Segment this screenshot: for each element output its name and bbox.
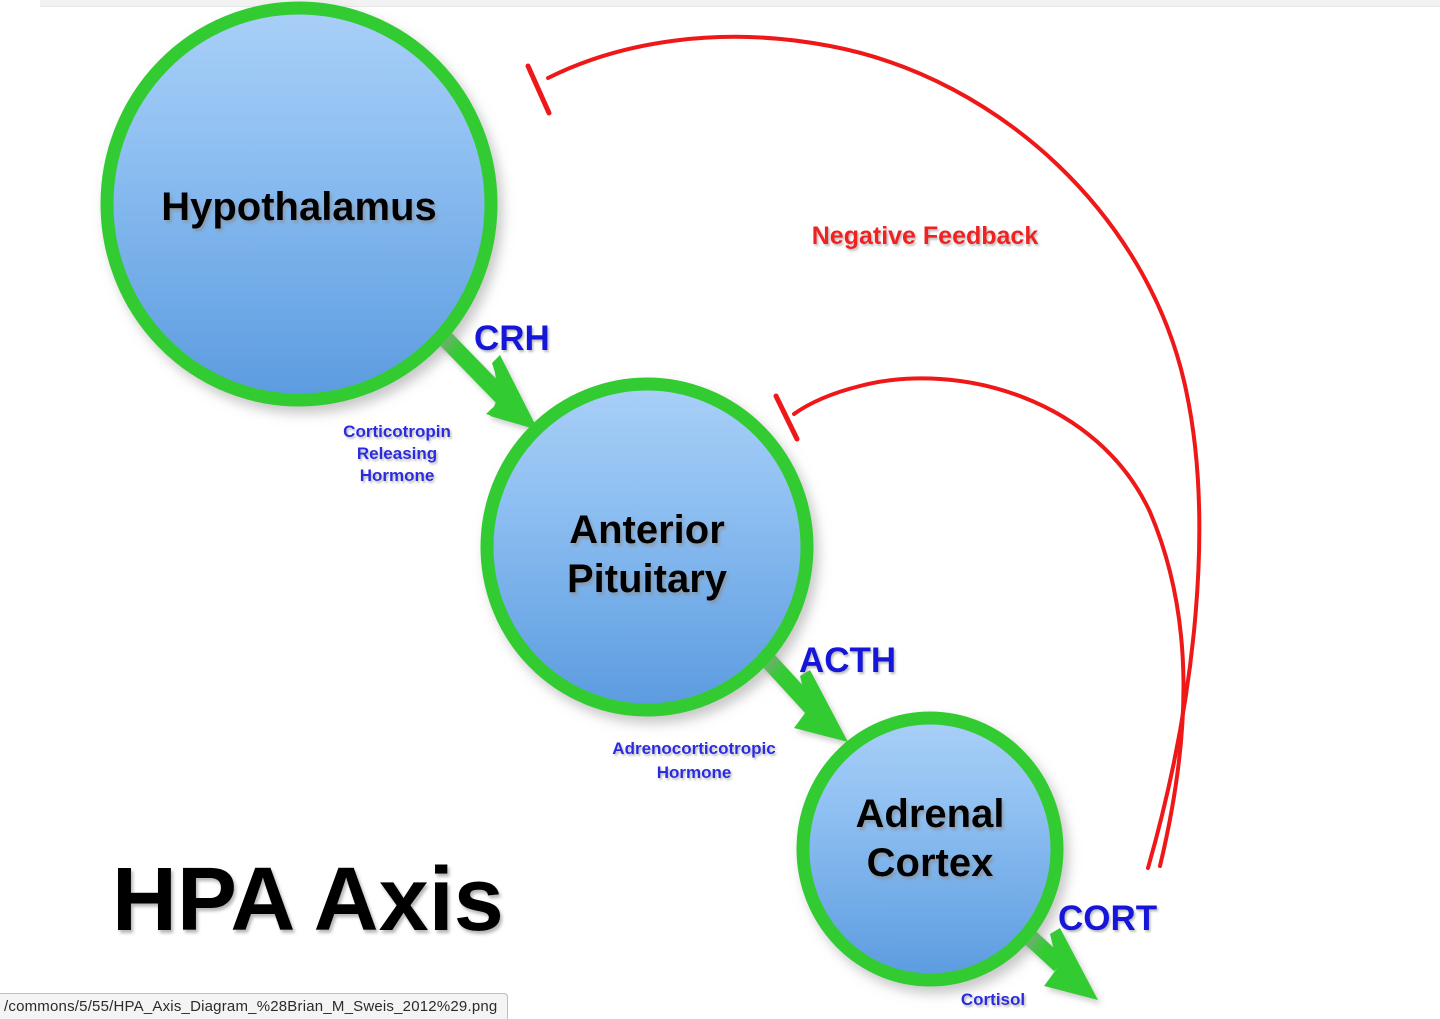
diagram-canvas: Negative Feedback Hypothalamus Anterior … xyxy=(0,0,1440,1019)
hpa-axis-diagram: Negative Feedback Hypothalamus Anterior … xyxy=(0,0,1440,1019)
negative-feedback-label: Negative Feedback xyxy=(812,222,1039,250)
acth-full-name-line2: Hormone xyxy=(657,763,732,782)
status-bar-url: /commons/5/55/HPA_Axis_Diagram_%28Brian_… xyxy=(4,998,497,1015)
adrenal-cortex-label-line1: Adrenal xyxy=(856,792,1005,836)
cort-abbreviation: CORT xyxy=(1058,899,1157,938)
page-title: HPA Axis xyxy=(112,850,504,950)
browser-status-bar: /commons/5/55/HPA_Axis_Diagram_%28Brian_… xyxy=(0,993,508,1019)
crh-full-name-line3: Hormone xyxy=(360,466,435,485)
anterior-pituitary-label-line1: Anterior xyxy=(569,508,725,552)
node-anterior-pituitary[interactable]: Anterior Pituitary xyxy=(487,384,807,710)
crh-abbreviation: CRH xyxy=(474,319,550,358)
hypothalamus-label: Hypothalamus xyxy=(161,185,437,229)
adrenal-cortex-label-line2: Cortex xyxy=(867,841,994,885)
acth-full-name-line1: Adrenocorticotropic xyxy=(612,739,775,758)
cort-full-name-line1: Cortisol xyxy=(961,990,1025,1009)
crh-full-name-line2: Releasing xyxy=(357,444,437,463)
node-adrenal-cortex[interactable]: Adrenal Cortex xyxy=(803,718,1057,980)
node-hypothalamus[interactable]: Hypothalamus xyxy=(107,8,491,400)
acth-abbreviation: ACTH xyxy=(799,641,896,680)
anterior-pituitary-label-line2: Pituitary xyxy=(567,557,728,601)
arrow-cort xyxy=(1022,928,1098,1000)
crh-full-name-line1: Corticotropin xyxy=(343,422,451,441)
